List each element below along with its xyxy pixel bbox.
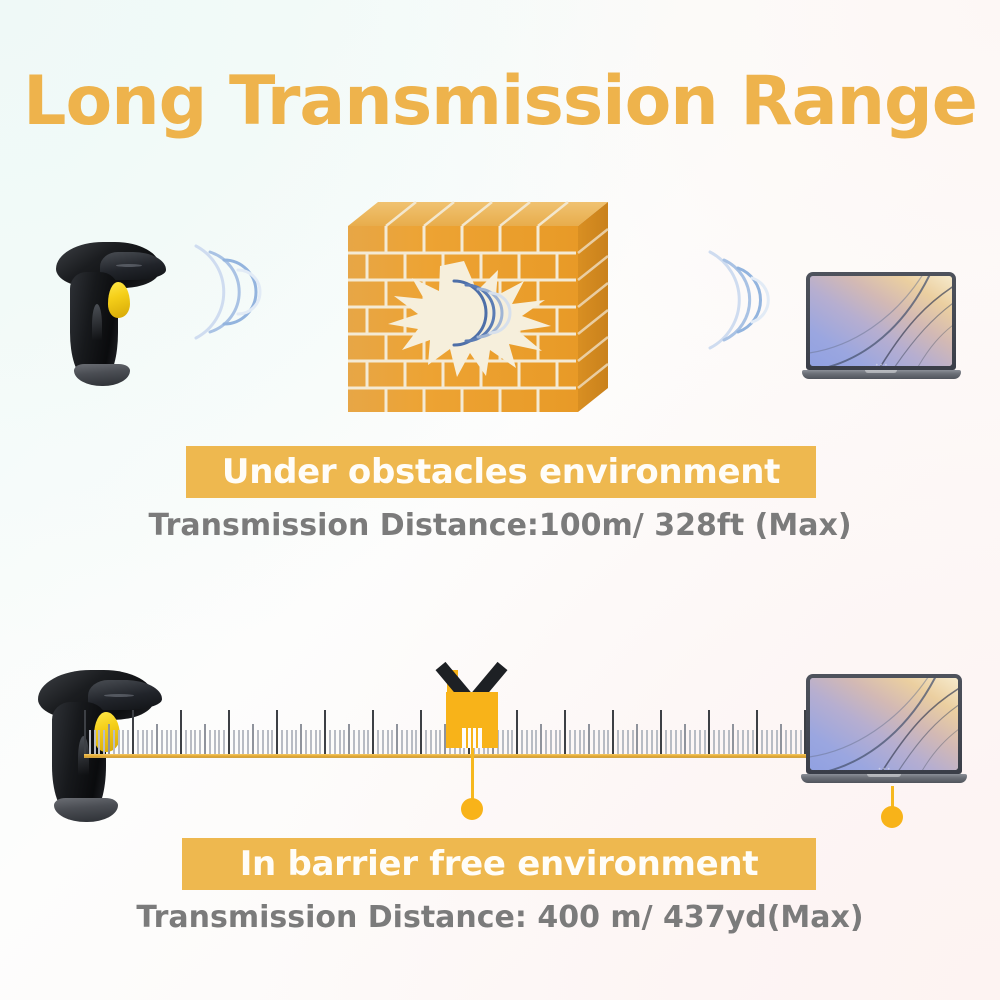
ruler-tick-minor: [108, 724, 110, 754]
pin-midpoint: [455, 748, 489, 820]
ruler-tick-minor: [363, 730, 365, 754]
ruler-tick-minor: [142, 730, 144, 754]
ruler-tick-minor: [348, 724, 350, 754]
ruler-tick-minor: [689, 730, 691, 754]
laptop-bottom: •••: [806, 674, 962, 790]
ruler-tick-minor: [267, 730, 269, 754]
ruler-tick-minor: [367, 730, 369, 754]
ruler-tick-minor: [382, 730, 384, 754]
ruler-tick-major: [324, 710, 326, 754]
ruler-tick-minor: [545, 730, 547, 754]
ruler-tick-minor: [300, 724, 302, 754]
ruler-tick-minor: [574, 730, 576, 754]
ruler-tick-minor: [627, 730, 629, 754]
ruler-tick-minor: [391, 730, 393, 754]
ruler-tick-minor: [569, 730, 571, 754]
ruler-tick-minor: [559, 730, 561, 754]
ruler-tick-minor: [151, 730, 153, 754]
ruler-tick-minor: [713, 730, 715, 754]
ruler-tick-minor: [593, 730, 595, 754]
ruler-tick-minor: [358, 730, 360, 754]
ruler-tick-minor: [257, 730, 259, 754]
ruler-tick-minor: [223, 730, 225, 754]
infographic-canvas: Long Transmission Range: [0, 0, 1000, 1000]
ruler-tick-minor: [271, 730, 273, 754]
ruler-tick-minor: [315, 730, 317, 754]
ruler-tick-minor: [694, 730, 696, 754]
ruler-tick-minor: [771, 730, 773, 754]
ruler-tick-minor: [295, 730, 297, 754]
ruler-tick-minor: [526, 730, 528, 754]
ruler-tick-minor: [531, 730, 533, 754]
ruler-tick-minor: [670, 730, 672, 754]
ruler-tick-minor: [103, 730, 105, 754]
ruler-tick-major: [228, 710, 230, 754]
house-icon: [424, 666, 520, 748]
ruler-tick-minor: [286, 730, 288, 754]
ruler-tick-minor: [194, 730, 196, 754]
ruler-tick-minor: [98, 730, 100, 754]
ruler-tick-minor: [607, 730, 609, 754]
ruler-tick-minor: [262, 730, 264, 754]
ruler-tick-minor: [665, 730, 667, 754]
ruler-tick-minor: [329, 730, 331, 754]
ruler-tick-minor: [118, 730, 120, 754]
ruler-tick-major: [276, 710, 278, 754]
ruler-tick-minor: [127, 730, 129, 754]
ruler-tick-minor: [636, 724, 638, 754]
ruler-tick-minor: [646, 730, 648, 754]
ruler-tick-minor: [156, 724, 158, 754]
ruler-tick-major: [372, 710, 374, 754]
ruler-tick-major: [84, 710, 86, 754]
ruler-tick-minor: [281, 730, 283, 754]
ruler-tick-minor: [291, 730, 293, 754]
laptop-screen-bottom: [810, 678, 958, 770]
ruler-tick-minor: [603, 730, 605, 754]
ruler-tick-minor: [795, 730, 797, 754]
ruler-tick-minor: [632, 730, 634, 754]
ruler-tick-major: [132, 710, 134, 754]
ruler-tick-major: [708, 710, 710, 754]
ruler-tick-minor: [776, 730, 778, 754]
ruler-tick-minor: [675, 730, 677, 754]
distance-barrier-free: Transmission Distance: 400 m/ 437yd(Max): [100, 900, 900, 935]
ruler-tick-minor: [310, 730, 312, 754]
ruler-tick-minor: [242, 730, 244, 754]
ruler-tick-minor: [396, 724, 398, 754]
ruler-tick-minor: [761, 730, 763, 754]
page-title: Long Transmission Range: [0, 62, 1000, 141]
ruler-tick-minor: [521, 730, 523, 754]
ruler-tick-minor: [680, 730, 682, 754]
ruler-tick-minor: [598, 730, 600, 754]
ruler-tick-major: [612, 710, 614, 754]
ruler-tick-minor: [747, 730, 749, 754]
ruler-tick-minor: [209, 730, 211, 754]
ruler-tick-minor: [305, 730, 307, 754]
ruler-tick-minor: [113, 730, 115, 754]
ruler-tick-minor: [166, 730, 168, 754]
ruler-tick-minor: [752, 730, 754, 754]
banner-under-obstacles: Under obstacles environment: [186, 446, 816, 498]
ruler-tick-minor: [238, 730, 240, 754]
ruler-tick-minor: [800, 730, 802, 754]
ruler-tick-minor: [718, 730, 720, 754]
ruler-tick-minor: [343, 730, 345, 754]
ruler-tick-minor: [89, 730, 91, 754]
signal-waves-left: [192, 236, 266, 348]
ruler-tick-minor: [742, 730, 744, 754]
ruler-tick-minor: [415, 730, 417, 754]
ruler-tick-minor: [785, 730, 787, 754]
ruler-tick-minor: [641, 730, 643, 754]
laptop-top: •••: [806, 272, 956, 384]
ruler-tick-minor: [766, 730, 768, 754]
ruler-tick-minor: [699, 730, 701, 754]
banner-barrier-free: In barrier free environment: [182, 838, 816, 890]
ruler-tick-minor: [540, 724, 542, 754]
ruler-tick-minor: [550, 730, 552, 754]
ruler-tick-minor: [252, 724, 254, 754]
ruler-tick-minor: [122, 730, 124, 754]
distance-under-obstacles: Transmission Distance:100m/ 328ft (Max): [100, 508, 900, 543]
ruler-tick-minor: [406, 730, 408, 754]
ruler-tick-minor: [411, 730, 413, 754]
ruler-tick-minor: [94, 730, 96, 754]
ruler-tick-minor: [353, 730, 355, 754]
ruler-tick-minor: [535, 730, 537, 754]
ruler-tick-minor: [339, 730, 341, 754]
ruler-tick-minor: [387, 730, 389, 754]
ruler-tick-major: [180, 710, 182, 754]
ruler-tick-minor: [170, 730, 172, 754]
ruler-tick-minor: [175, 730, 177, 754]
house-door-icon: [462, 728, 482, 748]
ruler-tick-minor: [137, 730, 139, 754]
ruler-tick-minor: [622, 730, 624, 754]
ruler-tick-minor: [737, 730, 739, 754]
laptop-screen-top: [810, 276, 952, 366]
ruler-tick-minor: [704, 730, 706, 754]
ruler-tick-minor: [218, 730, 220, 754]
ruler-tick-minor: [651, 730, 653, 754]
ruler-baseline: [84, 754, 814, 758]
ruler-tick-minor: [204, 724, 206, 754]
ruler-tick-minor: [780, 724, 782, 754]
ruler-tick-major: [564, 710, 566, 754]
ruler-tick-minor: [214, 730, 216, 754]
pin-endpoint: [875, 786, 909, 828]
ruler-tick-minor: [247, 730, 249, 754]
ruler-tick-major: [756, 710, 758, 754]
ruler-tick-minor: [146, 730, 148, 754]
ruler-tick-minor: [199, 730, 201, 754]
ruler-tick-minor: [723, 730, 725, 754]
ruler-tick-minor: [319, 730, 321, 754]
brick-wall-obstacle: [346, 198, 612, 420]
ruler-tick-minor: [185, 730, 187, 754]
ruler-tick-minor: [588, 724, 590, 754]
ruler-tick-minor: [555, 730, 557, 754]
ruler-tick-minor: [728, 730, 730, 754]
ruler-tick-minor: [161, 730, 163, 754]
signal-waves-right: [700, 244, 786, 356]
barcode-scanner-top: [44, 238, 170, 390]
ruler-tick-minor: [790, 730, 792, 754]
ruler-tick-minor: [579, 730, 581, 754]
ruler-tick-minor: [401, 730, 403, 754]
ruler-tick-major: [420, 710, 422, 754]
ruler-tick-minor: [656, 730, 658, 754]
ruler-tick-minor: [377, 730, 379, 754]
ruler-tick-minor: [233, 730, 235, 754]
ruler-tick-minor: [684, 724, 686, 754]
ruler-tick-minor: [334, 730, 336, 754]
ruler-tick-minor: [617, 730, 619, 754]
ruler-tick-major: [660, 710, 662, 754]
ruler-tick-minor: [190, 730, 192, 754]
ruler-tick-minor: [732, 724, 734, 754]
ruler-tick-minor: [583, 730, 585, 754]
